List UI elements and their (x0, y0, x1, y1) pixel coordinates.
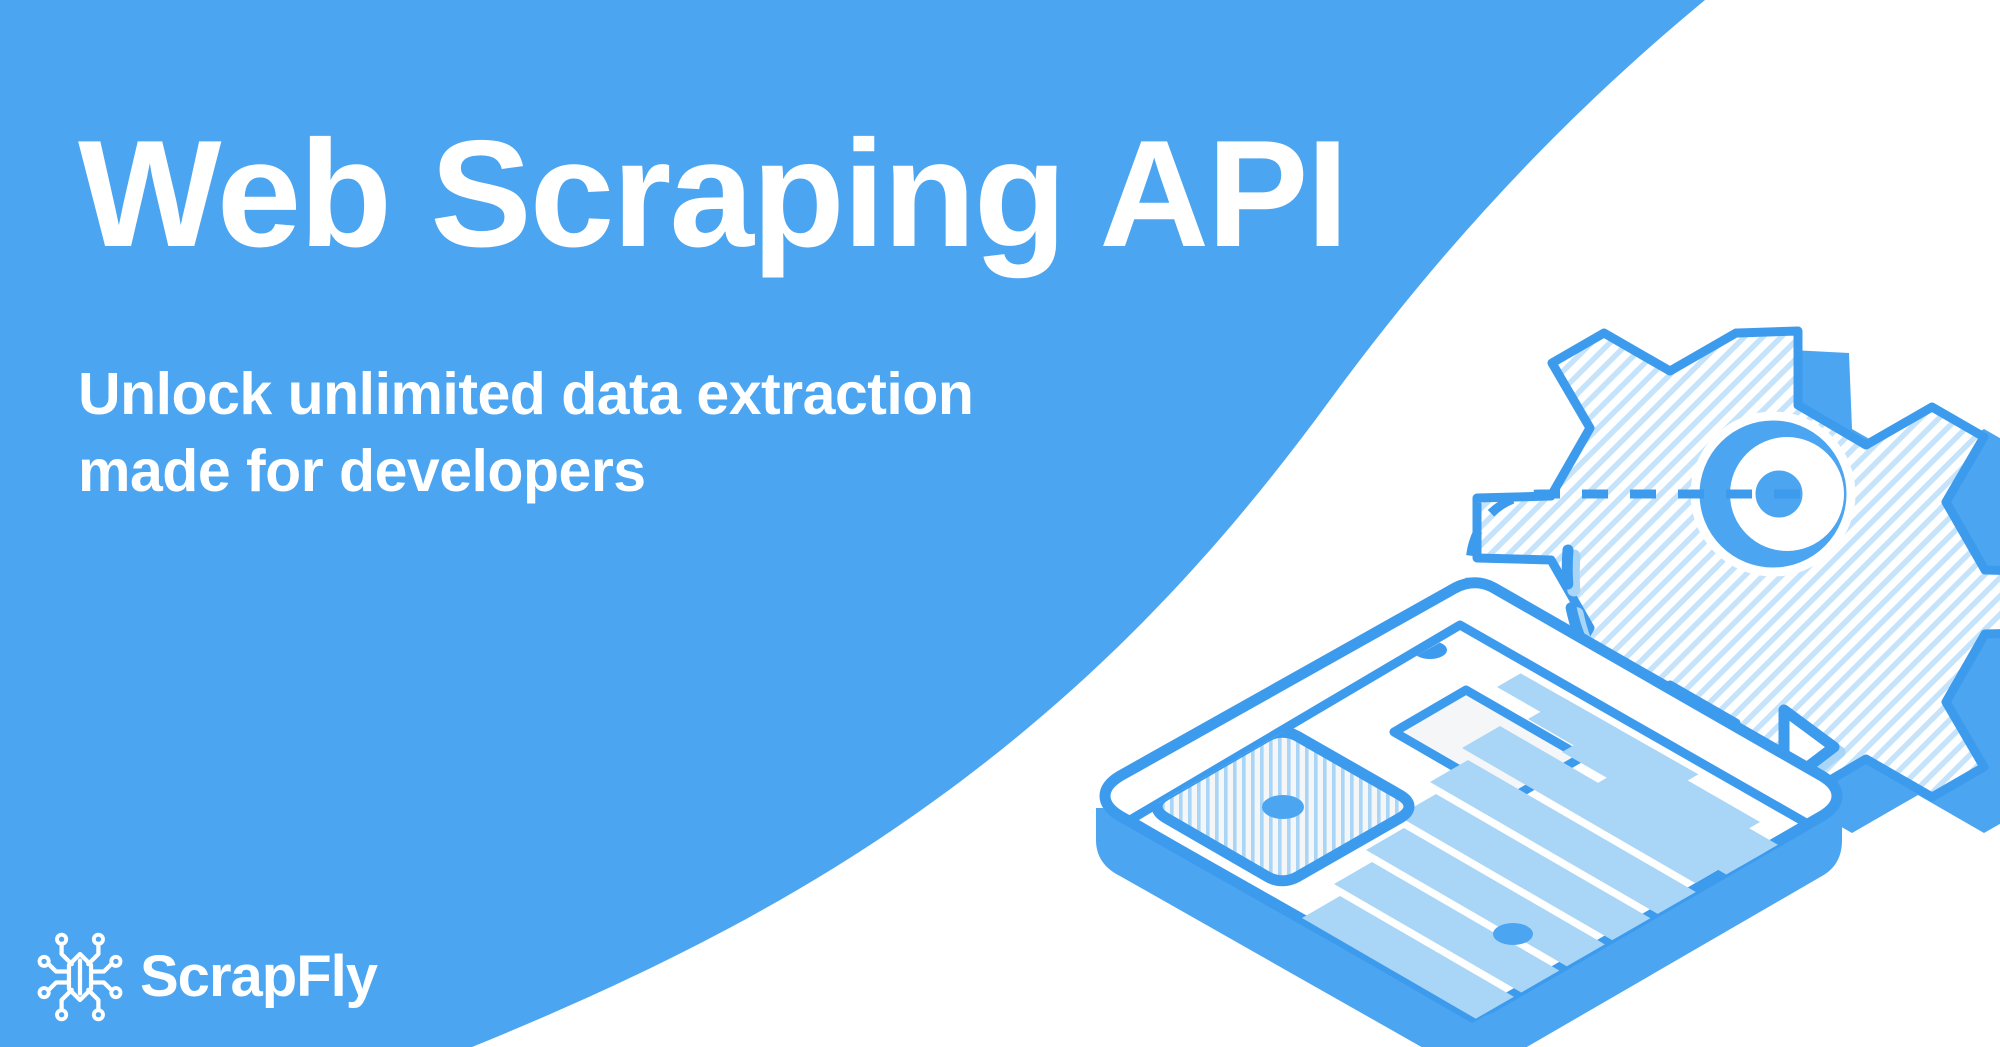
web-scraping-api-banner: Web Scraping API Unlock unlimited data e… (0, 0, 2000, 1047)
copy-block: Web Scraping API Unlock unlimited data e… (78, 118, 1258, 509)
scrapfly-bug-icon (34, 929, 126, 1025)
page-title: Web Scraping API (78, 118, 1258, 270)
subtitle-line-2: made for developers (78, 433, 1258, 510)
subtitle-line-1: Unlock unlimited data extraction (78, 356, 1258, 433)
scrapfly-logo[interactable]: ScrapFly (34, 929, 377, 1025)
scrapfly-wordmark: ScrapFly (140, 948, 377, 1006)
page-subtitle: Unlock unlimited data extraction made fo… (78, 356, 1258, 509)
